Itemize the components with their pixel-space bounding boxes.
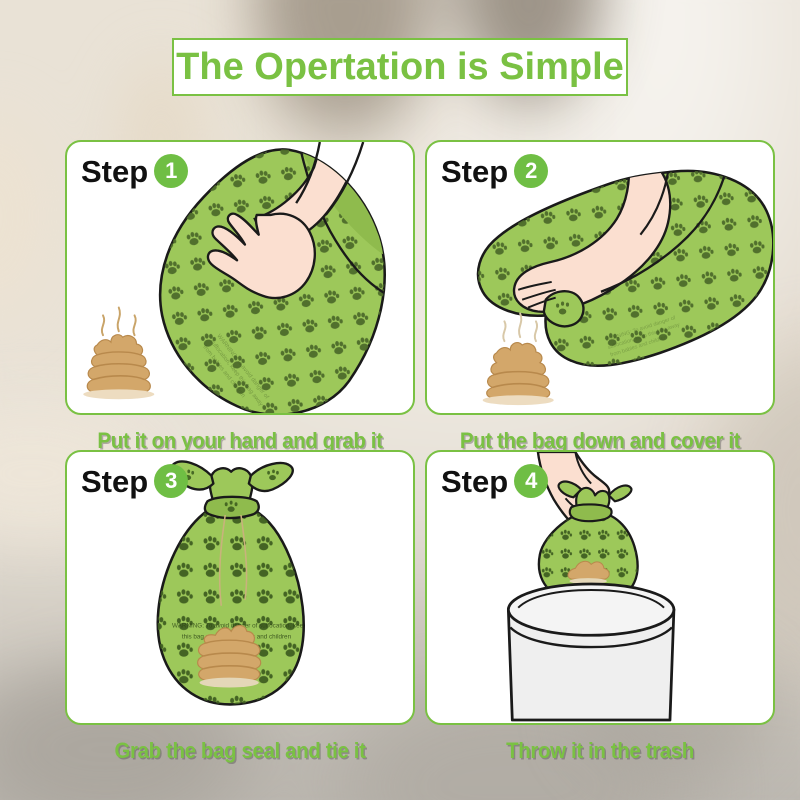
step-4-badge: Step 4: [441, 464, 548, 498]
step-3-illustration-card: WARNING: To avoid danger of suffocation,…: [65, 450, 415, 725]
step-1-number: 1: [154, 154, 188, 188]
step-3-word: Step: [81, 466, 148, 497]
page-title-text: The Opertation is Simple: [176, 48, 624, 86]
page-title: The Opertation is Simple: [172, 38, 628, 96]
step-1-badge: Step 1: [81, 154, 188, 188]
step-2-word: Step: [441, 156, 508, 187]
step-1-illustration-card: WARNING: To avoid danger of suffocation,…: [65, 140, 415, 415]
step-3-caption: Grab the bag seal and tie it: [77, 738, 403, 764]
step-4-illustration-card: Step 4: [425, 450, 775, 725]
step-4-caption: Throw it in the trash: [437, 738, 763, 764]
step-2-badge: Step 2: [441, 154, 548, 188]
step-4-number: 4: [514, 464, 548, 498]
steps-grid: WARNING: To avoid danger of suffocation,…: [0, 140, 800, 790]
step-4-word: Step: [441, 466, 508, 497]
step-1-word: Step: [81, 156, 148, 187]
step-card-4: Step 4 Throw it in the trash: [425, 450, 775, 764]
step-3-badge: Step 3: [81, 464, 188, 498]
step-2-illustration-card: WARNING: To avoid danger of suffocation,…: [425, 140, 775, 415]
step-2-number: 2: [514, 154, 548, 188]
step-3-number: 3: [154, 464, 188, 498]
step-card-3: WARNING: To avoid danger of suffocation,…: [65, 450, 415, 764]
step-card-1: WARNING: To avoid danger of suffocation,…: [65, 140, 415, 454]
step-card-2: WARNING: To avoid danger of suffocation,…: [425, 140, 775, 454]
